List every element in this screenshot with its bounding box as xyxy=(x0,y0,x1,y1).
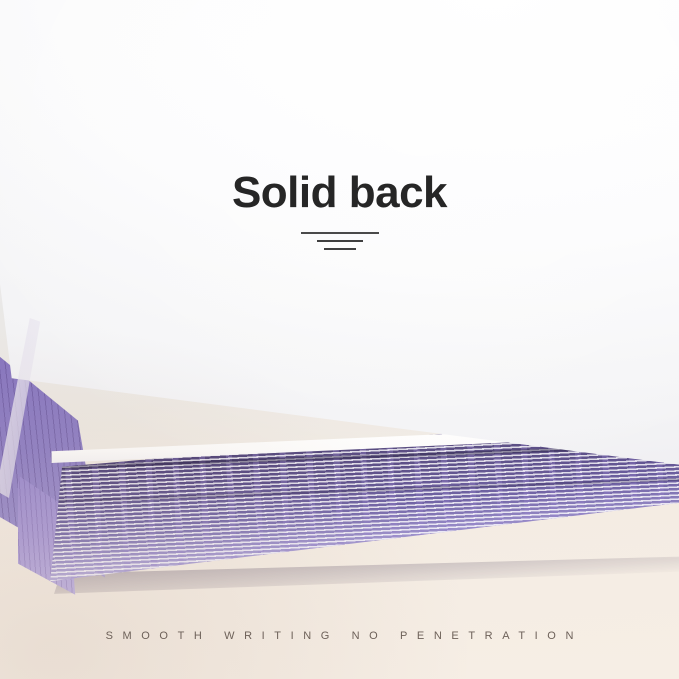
divider-rule-3 xyxy=(324,248,356,250)
stack-of-purple-edged-paper xyxy=(0,0,679,679)
triple-rule-divider-icon xyxy=(0,232,679,250)
tagline: SMOOTH WRITING NO PENETRATION xyxy=(0,630,679,642)
divider-rule-1 xyxy=(301,232,379,234)
product-photo-scene: Solid back SMOOTH WRITING NO PENETRATION xyxy=(0,0,679,679)
page-title: Solid back xyxy=(0,168,679,218)
divider-rule-2 xyxy=(317,240,363,242)
